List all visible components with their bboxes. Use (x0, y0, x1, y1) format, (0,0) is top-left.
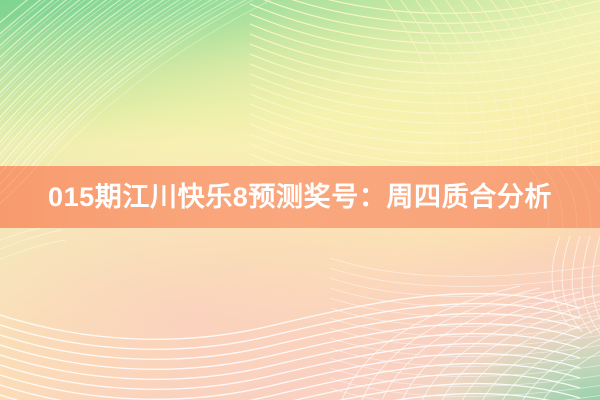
title-band: 015期江川快乐8预测奖号：周四质合分析 (0, 166, 600, 228)
banner-title: 015期江川快乐8预测奖号：周四质合分析 (0, 166, 600, 228)
promo-banner: 015期江川快乐8预测奖号：周四质合分析 (0, 0, 600, 400)
